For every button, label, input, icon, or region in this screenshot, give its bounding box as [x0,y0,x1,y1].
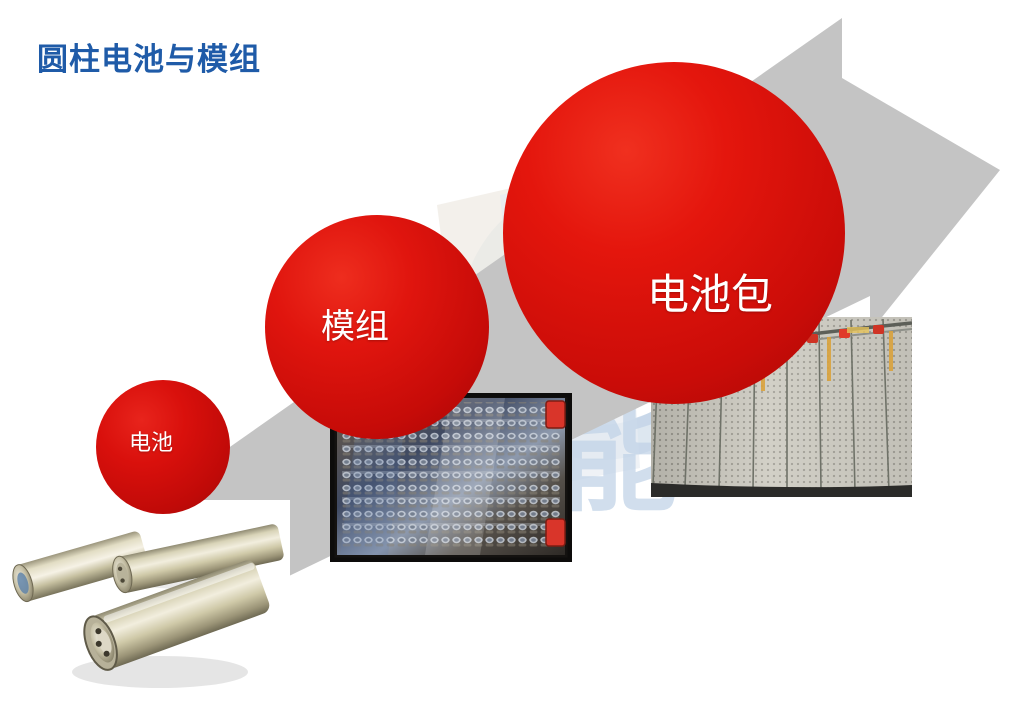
stage-bubble-cell[interactable]: 电池 [96,380,230,514]
stage-bubble-pack[interactable]: 电池包 [503,62,845,404]
stage-label-cell: 电池 [129,432,173,454]
stage-bubble-module[interactable]: 模组 [265,215,489,439]
stage-label-module: 模组 [321,310,389,344]
slide-canvas: 能 智 [0,0,1020,715]
stage-label-pack: 电池包 [647,274,773,316]
page-title: 圆柱电池与模组 [37,34,261,79]
photo-cylindrical-cells [0,500,290,715]
